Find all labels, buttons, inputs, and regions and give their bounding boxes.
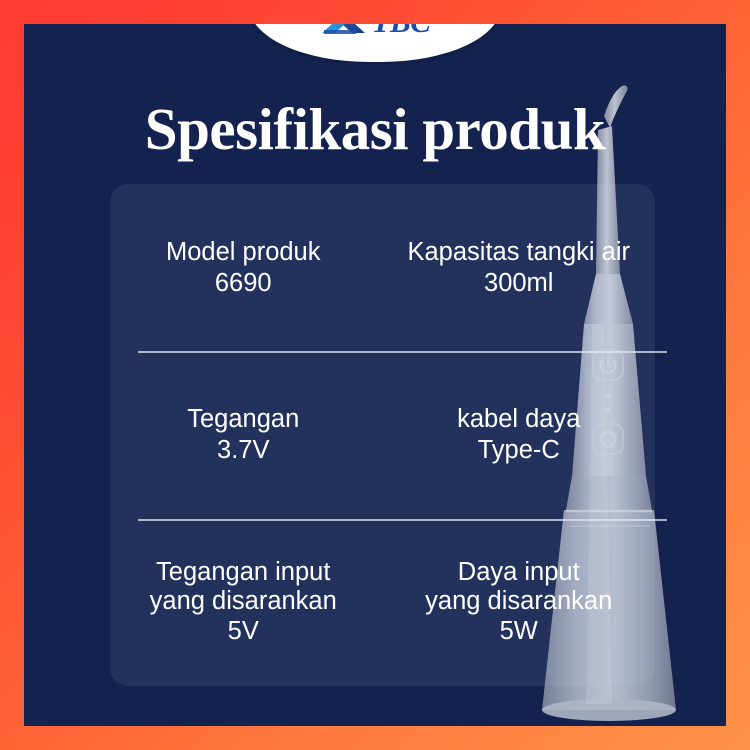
spec-label: Daya input yang disarankan bbox=[425, 558, 612, 617]
spec-row: Model produk 6690 Kapasitas tangki air 3… bbox=[110, 184, 655, 351]
spec-label: Model produk bbox=[166, 237, 321, 268]
spec-value: 5W bbox=[500, 616, 538, 647]
navy-panel: The best choice TBC Spesifikasi produk M… bbox=[24, 24, 726, 726]
spec-cell-kabel-daya: kabel daya Type-C bbox=[383, 351, 656, 518]
brand-name: TBC bbox=[372, 24, 431, 36]
spec-value: 6690 bbox=[215, 268, 272, 299]
brand-banner: The best choice TBC bbox=[249, 24, 501, 62]
spec-cell-kapasitas-tangki-air: Kapasitas tangki air 300ml bbox=[383, 184, 656, 351]
spec-value: 300ml bbox=[484, 268, 553, 299]
spec-cell-tegangan-input: Tegangan input yang disarankan 5V bbox=[110, 519, 383, 686]
spec-label: Tegangan input yang disarankan bbox=[150, 558, 337, 617]
spec-value: 5V bbox=[228, 616, 259, 647]
spec-label: kabel daya bbox=[457, 404, 580, 435]
spec-value: 3.7V bbox=[217, 435, 269, 466]
spec-table: Model produk 6690 Kapasitas tangki air 3… bbox=[110, 184, 655, 686]
spec-row: Tegangan input yang disarankan 5V Daya i… bbox=[110, 519, 655, 686]
poster-canvas: The best choice TBC Spesifikasi produk M… bbox=[0, 0, 750, 750]
spec-cell-tegangan: Tegangan 3.7V bbox=[110, 351, 383, 518]
x-logo-icon bbox=[320, 24, 370, 36]
page-title: Spesifikasi produk bbox=[24, 100, 726, 159]
spec-cell-model-produk: Model produk 6690 bbox=[110, 184, 383, 351]
spec-cell-daya-input: Daya input yang disarankan 5W bbox=[383, 519, 656, 686]
spec-row: Tegangan 3.7V kabel daya Type-C bbox=[110, 351, 655, 518]
spec-label: Tegangan bbox=[187, 404, 299, 435]
spec-label: Kapasitas tangki air bbox=[407, 237, 630, 268]
spec-value: Type-C bbox=[478, 435, 560, 466]
